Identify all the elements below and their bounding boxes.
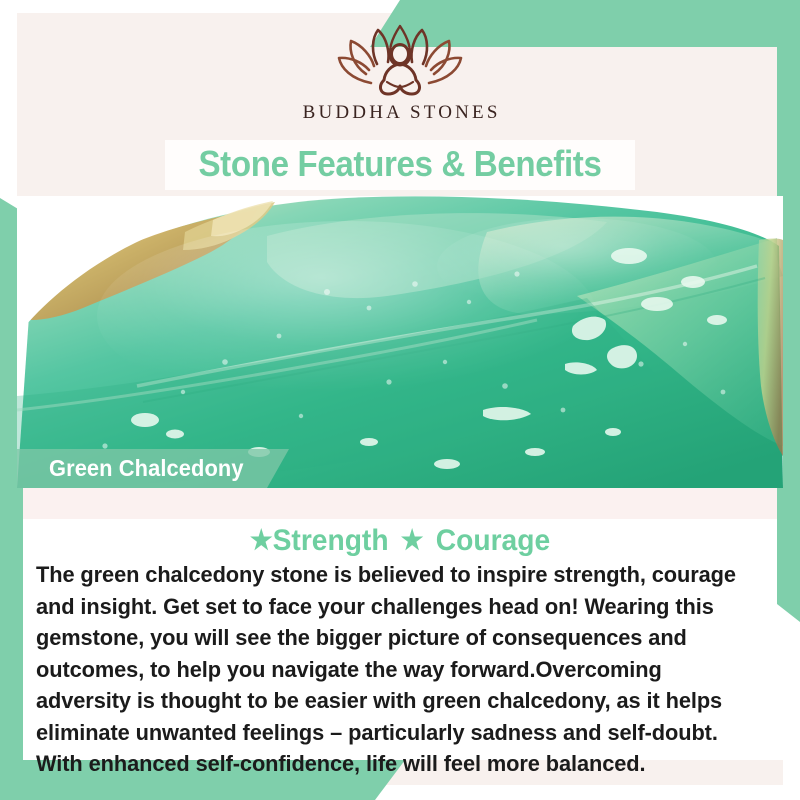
poster-canvas: BUDDHA STONES Stone Features & Benefits [0, 0, 800, 800]
stone-photo [17, 196, 783, 488]
star-icon-courage: ★ [401, 525, 424, 555]
star-icon-strength: ★ [250, 525, 273, 555]
stone-name-caption: Green Chalcedony [49, 452, 244, 484]
mid-pink-band [17, 488, 783, 519]
description-paragraph: The green chalcedony stone is believed t… [36, 559, 752, 780]
keyword-headings: ★Strength★Courage [24, 519, 776, 562]
keyword-strength: Strength [273, 524, 389, 557]
keyword-courage: Courage [436, 524, 550, 557]
stone-photo-graphic [17, 196, 783, 488]
brand-wordmark: BUDDHA STONES [0, 102, 800, 124]
lotus-meditation-icon [325, 20, 475, 98]
page-title: Stone Features & Benefits [32, 139, 768, 189]
brand-header: BUDDHA STONES [0, 20, 800, 124]
